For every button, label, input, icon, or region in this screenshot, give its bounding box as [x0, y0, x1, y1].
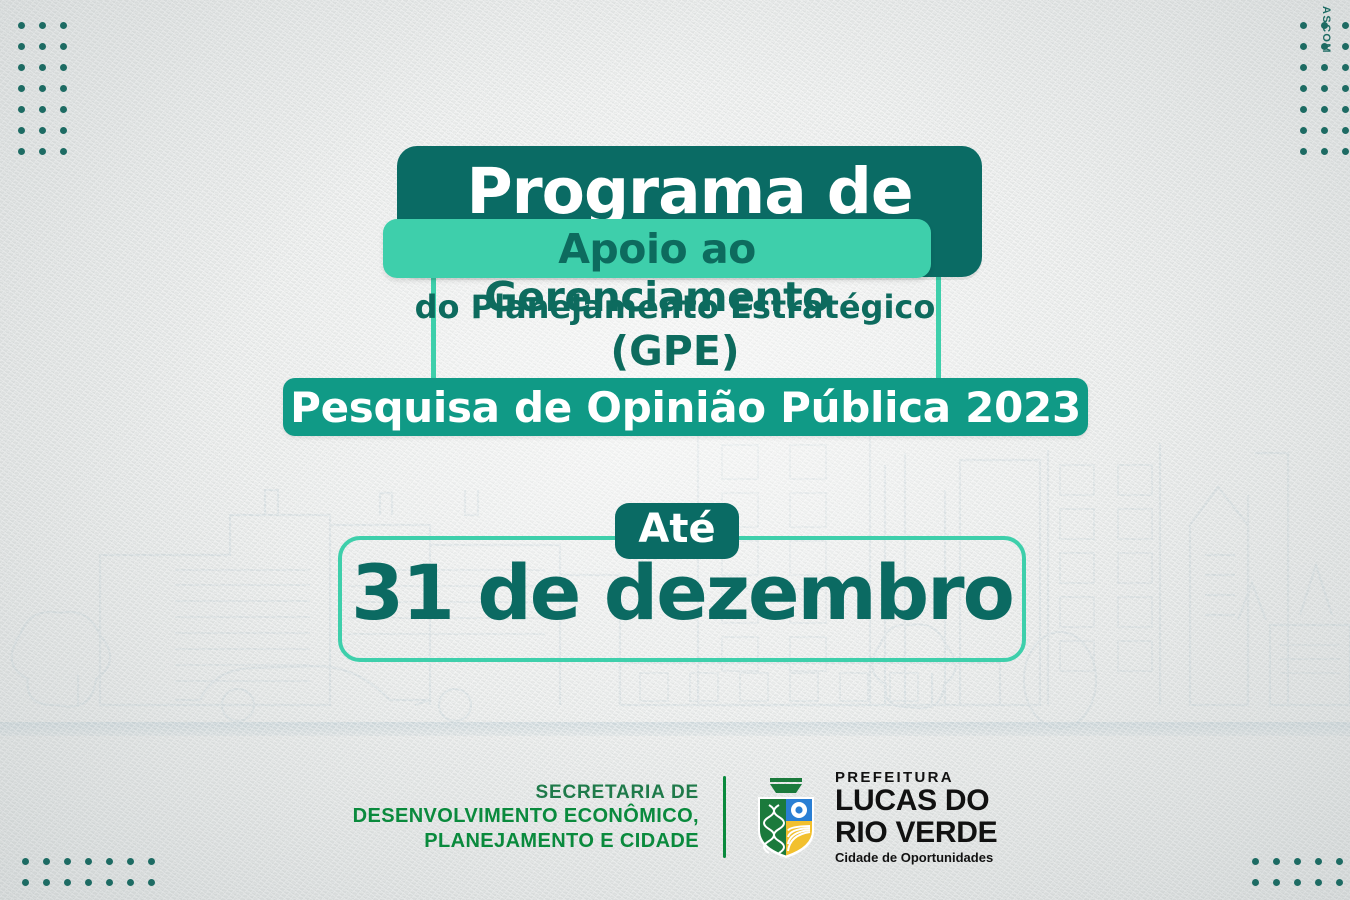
- secretaria-block: SECRETARIA DE DESENVOLVIMENTO ECONÔMICO,…: [353, 781, 723, 853]
- decorative-dot: [1321, 85, 1328, 92]
- deadline-date: 31 de dezembro: [342, 548, 1022, 637]
- decorative-dot: [60, 148, 67, 155]
- decorative-dot: [127, 879, 134, 886]
- decorative-dot: [60, 106, 67, 113]
- decorative-dot: [60, 22, 67, 29]
- title-line-3: do Planejamento Estratégico: [0, 288, 1350, 326]
- brand-slogan: Cidade de Oportunidades: [835, 851, 997, 865]
- decorative-dot: [1300, 22, 1307, 29]
- decorative-dot: [1321, 148, 1328, 155]
- decorative-dot: [1294, 879, 1301, 886]
- decorative-dot: [1300, 43, 1307, 50]
- decorative-dot: [1321, 64, 1328, 71]
- ascom-watermark: ASCOM: [1320, 6, 1332, 54]
- decorative-dot: [60, 64, 67, 71]
- decorative-dot: [1321, 127, 1328, 134]
- decorative-dot: [60, 43, 67, 50]
- title-line-1: Programa de: [397, 155, 982, 228]
- decorative-dot: [39, 106, 46, 113]
- decorative-dot: [18, 64, 25, 71]
- decorative-dot: [1342, 64, 1349, 71]
- decorative-dot: [64, 879, 71, 886]
- decorative-dot: [18, 22, 25, 29]
- title-block-pesquisa: Pesquisa de Opinião Pública 2023: [283, 378, 1088, 436]
- decorative-dot: [22, 879, 29, 886]
- decorative-dot: [1273, 879, 1280, 886]
- decorative-dot: [1252, 879, 1259, 886]
- brand-city-line-1: LUCAS DO: [835, 785, 997, 816]
- decorative-dot: [148, 879, 155, 886]
- decorative-dot: [1342, 85, 1349, 92]
- poster-canvas: ASCOM Programa de Apoio ao Gerenciamento…: [0, 0, 1350, 900]
- deadline-badge: Até: [615, 503, 739, 559]
- decorative-dot: [60, 85, 67, 92]
- ground-line: [0, 722, 1350, 736]
- decorative-dot: [39, 43, 46, 50]
- title-line-4: (GPE): [0, 327, 1350, 375]
- decorative-dot: [18, 106, 25, 113]
- decorative-dot: [39, 148, 46, 155]
- decorative-dot: [43, 879, 50, 886]
- decorative-dot: [1342, 148, 1349, 155]
- title-line-5: Pesquisa de Opinião Pública 2023: [283, 383, 1088, 432]
- decorative-dot: [18, 148, 25, 155]
- decorative-dot: [18, 127, 25, 134]
- decorative-dot: [1321, 106, 1328, 113]
- decorative-dot: [39, 22, 46, 29]
- coat-of-arms-icon: [750, 773, 822, 861]
- brand-text-block: PREFEITURA LUCAS DO RIO VERDE Cidade de …: [835, 770, 997, 864]
- decorative-dot: [1342, 127, 1349, 134]
- decorative-dot: [1300, 106, 1307, 113]
- decorative-dot: [39, 64, 46, 71]
- brand-city-line-2: RIO VERDE: [835, 817, 997, 848]
- decorative-dot: [106, 879, 113, 886]
- prefeitura-brand: PREFEITURA LUCAS DO RIO VERDE Cidade de …: [726, 770, 997, 864]
- decorative-dot: [39, 127, 46, 134]
- secretaria-line-1: SECRETARIA DE: [353, 781, 699, 804]
- decorative-dot: [18, 85, 25, 92]
- decorative-dot: [39, 85, 46, 92]
- brand-prefeitura-label: PREFEITURA: [835, 770, 997, 786]
- secretaria-line-3: PLANEJAMENTO E CIDADE: [353, 829, 699, 853]
- decorative-dot: [18, 43, 25, 50]
- decorative-dot: [1300, 127, 1307, 134]
- decorative-dot: [1300, 85, 1307, 92]
- title-block-apoio: Apoio ao Gerenciamento: [383, 219, 931, 278]
- deadline-badge-label: Até: [615, 506, 739, 552]
- decorative-dot: [1342, 43, 1349, 50]
- decorative-dot: [60, 127, 67, 134]
- decorative-dot: [1342, 22, 1349, 29]
- decorative-dot: [1300, 64, 1307, 71]
- decorative-dot: [85, 879, 92, 886]
- decorative-dot: [1336, 879, 1343, 886]
- decorative-dot: [1300, 148, 1307, 155]
- decorative-dot: [1342, 106, 1349, 113]
- footer: SECRETARIA DE DESENVOLVIMENTO ECONÔMICO,…: [0, 762, 1350, 872]
- decorative-dot: [1315, 879, 1322, 886]
- secretaria-line-2: DESENVOLVIMENTO ECONÔMICO,: [353, 804, 699, 828]
